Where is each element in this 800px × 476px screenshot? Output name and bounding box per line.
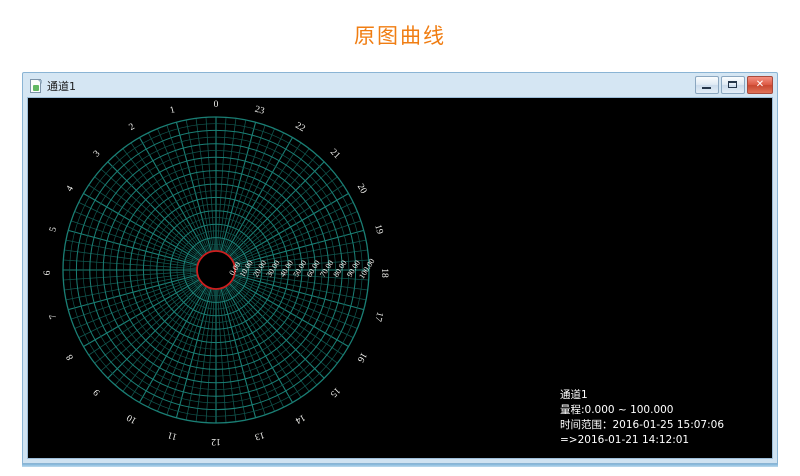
- hour-tick-label: 8: [65, 352, 76, 361]
- hour-tick-label: 18: [379, 268, 389, 278]
- hour-tick-label: 15: [328, 385, 342, 399]
- page-title: 原图曲线: [0, 0, 800, 47]
- hour-tick-label: 7: [48, 313, 59, 320]
- app-window: 通道1 ✕ 0.0010.0020.0030.0040.0050.0060.00…: [22, 72, 778, 464]
- window-bottom-edge: [22, 464, 778, 467]
- hour-tick-label: 1: [169, 105, 176, 116]
- hour-tick-label: 17: [372, 311, 384, 323]
- hour-tick-label: 14: [293, 412, 306, 426]
- hour-tick-label: 13: [253, 429, 265, 441]
- info-range: 量程:0.000 ~ 100.000: [560, 403, 724, 418]
- hour-tick-label: 0: [214, 100, 219, 110]
- hour-tick-label: 11: [167, 429, 179, 441]
- hour-tick-label: 6: [43, 270, 53, 275]
- hour-tick-label: 3: [92, 149, 103, 160]
- info-time-range: 时间范围：2016-01-25 15:07:06: [560, 418, 724, 433]
- hour-tick-label: 12: [211, 436, 221, 446]
- window-controls: ✕: [695, 76, 773, 94]
- close-button[interactable]: ✕: [747, 76, 773, 94]
- chart-canvas[interactable]: 0.0010.0020.0030.0040.0050.0060.0070.008…: [27, 97, 773, 459]
- hour-tick-label: 5: [48, 226, 59, 233]
- maximize-button[interactable]: [721, 76, 745, 94]
- hour-tick-label: 23: [254, 105, 266, 117]
- channel-info-block: 通道1 量程:0.000 ~ 100.000 时间范围：2016-01-25 1…: [560, 388, 724, 448]
- hour-tick-label: 16: [355, 350, 369, 363]
- hour-tick-label: 4: [65, 184, 76, 193]
- hour-tick-label: 22: [293, 121, 306, 135]
- hour-tick-label: 20: [355, 182, 369, 195]
- hour-tick-label: 21: [328, 147, 342, 161]
- hour-tick-label: 9: [92, 386, 103, 397]
- hour-tick-label: 2: [127, 122, 136, 133]
- minimize-button[interactable]: [695, 76, 719, 94]
- document-icon: [30, 79, 43, 94]
- hour-tick-label: 10: [125, 412, 138, 426]
- info-channel: 通道1: [560, 388, 724, 403]
- window-title: 通道1: [47, 78, 76, 94]
- hour-tick-label: 19: [372, 224, 384, 236]
- close-icon: ✕: [756, 80, 764, 90]
- window-title-bar[interactable]: 通道1 ✕: [26, 76, 774, 96]
- info-time-range-end: =>2016-01-21 14:12:01: [560, 433, 724, 448]
